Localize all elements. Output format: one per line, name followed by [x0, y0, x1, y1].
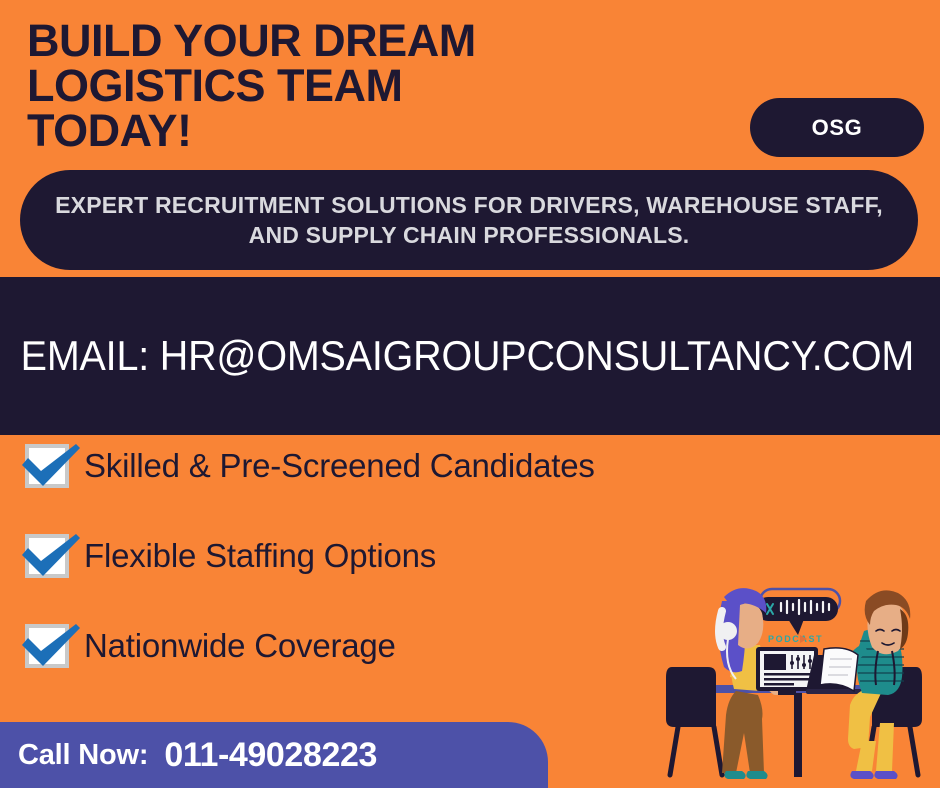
- poster-canvas: BUILD YOUR DREAM LOGISTICS TEAM TODAY! O…: [0, 0, 940, 788]
- email-banner: EMAIL: HR@OMSAIGROUPCONSULTANCY.COM: [0, 277, 940, 435]
- speech-bubble-icon: [756, 589, 840, 635]
- person-right: [820, 590, 910, 779]
- benefits-checklist: Skilled & Pre-Screened Candidates Flexib…: [22, 438, 682, 708]
- subtitle-banner: EXPERT RECRUITMENT SOLUTIONS FOR DRIVERS…: [20, 170, 918, 270]
- list-item: Nationwide Coverage: [22, 618, 682, 674]
- list-item-label: Nationwide Coverage: [84, 628, 396, 664]
- subtitle-text: EXPERT RECRUITMENT SOLUTIONS FOR DRIVERS…: [46, 190, 892, 250]
- clipboard: [820, 648, 858, 691]
- phone-number[interactable]: 011-49028223: [164, 736, 377, 775]
- call-now-bar[interactable]: Call Now: 011-49028223: [0, 722, 548, 788]
- logo-badge-label: OSG: [812, 115, 863, 141]
- list-item-label: Skilled & Pre-Screened Candidates: [84, 448, 595, 484]
- checkmark-icon: [22, 531, 72, 581]
- checkmark-icon: [22, 621, 72, 671]
- list-item-label: Flexible Staffing Options: [84, 538, 436, 574]
- checkmark-icon: [22, 441, 72, 491]
- list-item: Flexible Staffing Options: [22, 528, 682, 584]
- chair-left: [666, 667, 722, 775]
- podcast-interview-illustration: PODCAST: [648, 565, 940, 788]
- logo-badge: OSG: [750, 98, 924, 157]
- list-item: Skilled & Pre-Screened Candidates: [22, 438, 682, 494]
- page-title: BUILD YOUR DREAM LOGISTICS TEAM TODAY!: [27, 18, 747, 153]
- podcast-caption: PODCAST: [768, 634, 823, 644]
- email-text[interactable]: EMAIL: HR@OMSAIGROUPCONSULTANCY.COM: [0, 332, 914, 380]
- call-now-label: Call Now:: [18, 739, 148, 772]
